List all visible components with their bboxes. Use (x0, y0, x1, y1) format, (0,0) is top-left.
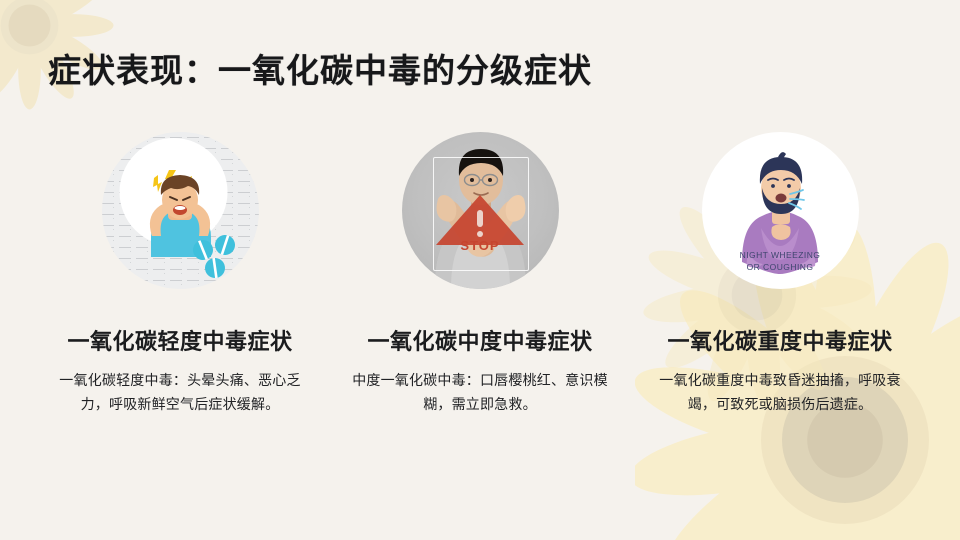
coughing-man-illustration: NIGHT WHEEZING OR COUGHING (702, 132, 859, 289)
page-title: 症状表现：一氧化碳中毒的分级症状 (48, 44, 592, 92)
headache-figure-icon (102, 132, 259, 289)
stop-gesture-photo: STOP (402, 132, 559, 289)
column-body-mild: 一氧化碳轻度中毒：头晕头痛、恶心乏力，呼吸新鲜空气后症状缓解。 (46, 370, 314, 418)
cough-caption-line1: NIGHT WHEEZING (702, 250, 859, 261)
cough-caption: NIGHT WHEEZING OR COUGHING (702, 250, 859, 273)
column-severe: NIGHT WHEEZING OR COUGHING 一氧化碳重度中毒症状 一氧… (630, 132, 930, 418)
column-mild: 一氧化碳轻度中毒症状 一氧化碳轻度中毒：头晕头痛、恶心乏力，呼吸新鲜空气后症状缓… (30, 132, 330, 418)
cough-caption-line2: OR COUGHING (702, 262, 859, 273)
column-heading-mild: 一氧化碳轻度中毒症状 (67, 324, 292, 356)
column-heading-moderate: 一氧化碳中度中毒症状 (367, 324, 592, 356)
svg-text:STOP: STOP (460, 238, 499, 253)
column-body-severe: 一氧化碳重度中毒致昏迷抽搐，呼吸衰竭，可致死或脑损伤后遗症。 (646, 370, 914, 418)
slide-canvas: 症状表现：一氧化碳中毒的分级症状 (0, 0, 960, 540)
symptom-columns: 一氧化碳轻度中毒症状 一氧化碳轻度中毒：头晕头痛、恶心乏力，呼吸新鲜空气后症状缓… (0, 132, 960, 418)
column-body-moderate: 中度一氧化碳中毒：口唇樱桃红、意识模糊，需立即急救。 (346, 370, 614, 418)
column-moderate: STOP 一氧化碳中度中毒症状 中度一氧化碳中毒：口唇樱桃红、意识模糊，需立即急… (330, 132, 630, 418)
column-heading-severe: 一氧化碳重度中毒症状 (667, 324, 892, 356)
stop-warning-overlay-icon: STOP (402, 132, 559, 289)
headache-person-illustration (102, 132, 259, 289)
